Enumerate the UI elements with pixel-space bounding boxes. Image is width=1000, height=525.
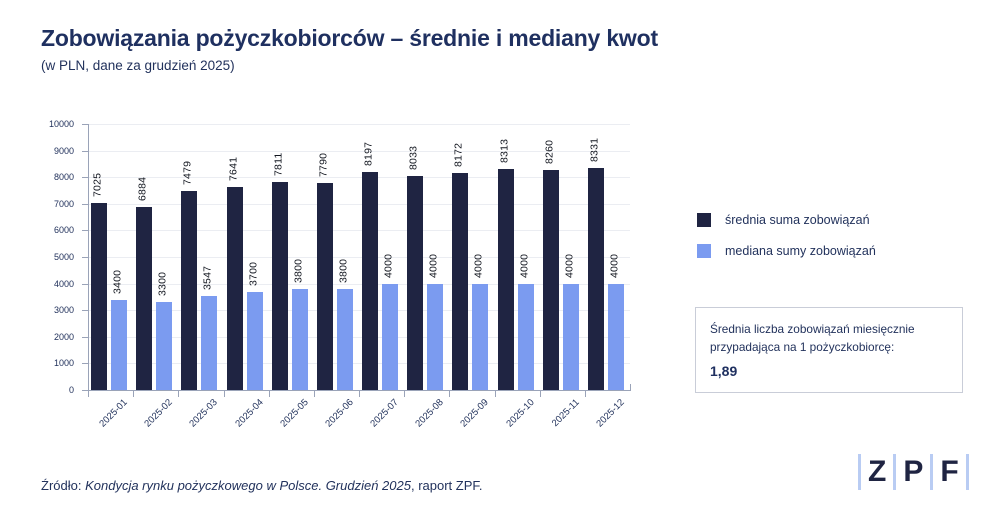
legend-item[interactable]: średnia suma zobowiązań <box>697 213 876 227</box>
info-box-line-1: Średnia liczba zobowiązań miesięcznie <box>710 320 948 338</box>
bar-value-label: 3700 <box>247 261 259 285</box>
y-axis-tick-label: 2000 <box>54 332 74 342</box>
bar-value-label: 4000 <box>428 253 440 277</box>
bar-mean[interactable]: 7479 <box>181 191 197 390</box>
bar-value-label: 6884 <box>137 177 149 201</box>
y-axis-tick-label: 10000 <box>49 119 74 129</box>
bar-group: 83134000 <box>495 124 540 390</box>
bar-value-label: 3800 <box>337 259 349 283</box>
legend-item-label: mediana sumy zobowiązań <box>725 244 876 258</box>
x-axis-tick-label: 2025-07 <box>368 397 400 429</box>
zpf-logo: ZPF <box>858 452 969 492</box>
x-axis-tick-label: 2025-04 <box>233 397 265 429</box>
bar-value-label: 8260 <box>543 140 555 164</box>
bar-mean[interactable]: 7641 <box>227 187 243 390</box>
bar-value-label: 8172 <box>453 142 465 166</box>
bar-group: 80334000 <box>404 124 449 390</box>
info-box-line-2: przypadająca na 1 pożyczkobiorcę: <box>710 338 948 356</box>
bar-value-label: 4000 <box>608 253 620 277</box>
bar-value-label: 8033 <box>408 146 420 170</box>
bar-value-label: 8313 <box>498 139 510 163</box>
x-axis-tick-label: 2025-02 <box>142 397 174 429</box>
bar-value-label: 7025 <box>92 173 104 197</box>
x-axis-tick-label: 2025-05 <box>278 397 310 429</box>
x-axis-tick-mark <box>359 390 360 397</box>
logo-divider <box>966 454 969 490</box>
x-axis-tick-label: 2025-03 <box>188 397 220 429</box>
bar-mean[interactable]: 8033 <box>407 176 423 390</box>
x-axis-tick-label: 2025-01 <box>97 397 129 429</box>
bar-median[interactable]: 4000 <box>382 284 398 390</box>
x-axis-tick-mark <box>269 390 270 397</box>
bar-median[interactable]: 3547 <box>201 296 217 390</box>
bar-group: 76413700 <box>224 124 269 390</box>
bar-value-label: 8331 <box>588 138 600 162</box>
bar-value-label: 4000 <box>563 253 575 277</box>
bar-median[interactable]: 3300 <box>156 302 172 390</box>
bar-group: 83314000 <box>585 124 630 390</box>
logo-letter-z: Z <box>861 454 893 490</box>
bar-median[interactable]: 3800 <box>292 289 308 390</box>
x-axis-tick-mark <box>314 390 315 397</box>
info-box: Średnia liczba zobowiązań miesięcznie pr… <box>695 307 963 393</box>
source-note: Źródło: Kondycja rynku pożyczkowego w Po… <box>41 478 483 493</box>
y-axis-tick-label: 9000 <box>54 146 74 156</box>
bar-median[interactable]: 3700 <box>247 292 263 390</box>
bar-value-label: 7641 <box>227 157 239 181</box>
y-axis-tick-label: 4000 <box>54 279 74 289</box>
bar-mean[interactable]: 7790 <box>317 183 333 390</box>
chart-legend: średnia suma zobowiązańmediana sumy zobo… <box>697 213 876 275</box>
x-axis-end-tick <box>630 384 631 391</box>
bar-mean[interactable]: 8197 <box>362 172 378 390</box>
x-axis-tick-mark <box>88 390 89 397</box>
y-axis-tick-label: 3000 <box>54 305 74 315</box>
bar-median[interactable]: 4000 <box>563 284 579 390</box>
logo-letter-p: P <box>896 454 930 490</box>
x-axis-tick-label: 2025-08 <box>413 397 445 429</box>
source-prefix: Źródło: <box>41 478 85 493</box>
logo-letter-f: F <box>933 454 965 490</box>
legend-item-label: średnia suma zobowiązań <box>725 213 870 227</box>
bar-mean[interactable]: 7025 <box>91 203 107 390</box>
bar-group: 82604000 <box>540 124 585 390</box>
y-axis-tick-label: 7000 <box>54 199 74 209</box>
bar-value-label: 3300 <box>157 272 169 296</box>
bar-value-label: 7479 <box>182 161 194 185</box>
x-axis-tick-label: 2025-12 <box>594 397 626 429</box>
bar-value-label: 4000 <box>473 253 485 277</box>
x-axis-tick-mark <box>404 390 405 397</box>
bars-layer: 7025340068843300747935477641370078113800… <box>88 124 630 390</box>
bar-value-label: 3800 <box>292 259 304 283</box>
bar-median[interactable]: 4000 <box>427 284 443 390</box>
bar-group: 74793547 <box>178 124 223 390</box>
x-axis-tick-mark <box>449 390 450 397</box>
bar-group: 81974000 <box>359 124 404 390</box>
x-axis-tick-label: 2025-09 <box>459 397 491 429</box>
bar-median[interactable]: 4000 <box>608 284 624 390</box>
y-axis-tick-label: 1000 <box>54 358 74 368</box>
legend-swatch-mean <box>697 213 711 227</box>
bar-median[interactable]: 3800 <box>337 289 353 390</box>
info-box-value: 1,89 <box>710 363 948 379</box>
bar-value-label: 4000 <box>383 253 395 277</box>
bar-group: 70253400 <box>88 124 133 390</box>
bar-group: 68843300 <box>133 124 178 390</box>
bar-value-label: 4000 <box>518 253 530 277</box>
x-axis-tick-label: 2025-10 <box>504 397 536 429</box>
bar-mean[interactable]: 8331 <box>588 168 604 390</box>
source-report-title: Kondycja rynku pożyczkowego w Polsce. Gr… <box>85 478 411 493</box>
x-axis-tick-mark <box>540 390 541 397</box>
bar-group: 81724000 <box>449 124 494 390</box>
source-suffix: , raport ZPF. <box>411 478 483 493</box>
bar-value-label: 3400 <box>112 269 124 293</box>
y-axis-tick-label: 0 <box>69 385 74 395</box>
x-axis-tick-mark <box>495 390 496 397</box>
bar-median[interactable]: 4000 <box>472 284 488 390</box>
bar-mean[interactable]: 8313 <box>498 169 514 390</box>
bar-mean[interactable]: 7811 <box>272 182 288 390</box>
bar-group: 77903800 <box>314 124 359 390</box>
y-axis: 0100020003000400050006000700080009000100… <box>0 0 84 460</box>
bar-median[interactable]: 3400 <box>111 300 127 390</box>
bar-value-label: 7790 <box>317 153 329 177</box>
chart-plot: 0100020003000400050006000700080009000100… <box>0 0 700 460</box>
bar-mean[interactable]: 6884 <box>136 207 152 390</box>
y-axis-tick-label: 8000 <box>54 172 74 182</box>
x-axis-tick-mark <box>585 390 586 397</box>
bar-mean[interactable]: 8260 <box>543 170 559 390</box>
bar-value-label: 3547 <box>202 265 214 289</box>
x-axis-tick-label: 2025-11 <box>549 397 581 429</box>
x-axis-tick-mark <box>224 390 225 397</box>
bar-median[interactable]: 4000 <box>518 284 534 390</box>
legend-swatch-median <box>697 244 711 258</box>
x-axis-tick-mark <box>178 390 179 397</box>
legend-item[interactable]: mediana sumy zobowiązań <box>697 244 876 258</box>
y-axis-tick-label: 6000 <box>54 225 74 235</box>
x-axis-tick-mark <box>133 390 134 397</box>
y-axis-tick-label: 5000 <box>54 252 74 262</box>
bar-value-label: 8197 <box>363 142 375 166</box>
bar-group: 78113800 <box>269 124 314 390</box>
bar-value-label: 7811 <box>272 153 284 176</box>
bar-mean[interactable]: 8172 <box>452 173 468 390</box>
x-axis-tick-label: 2025-06 <box>323 397 355 429</box>
